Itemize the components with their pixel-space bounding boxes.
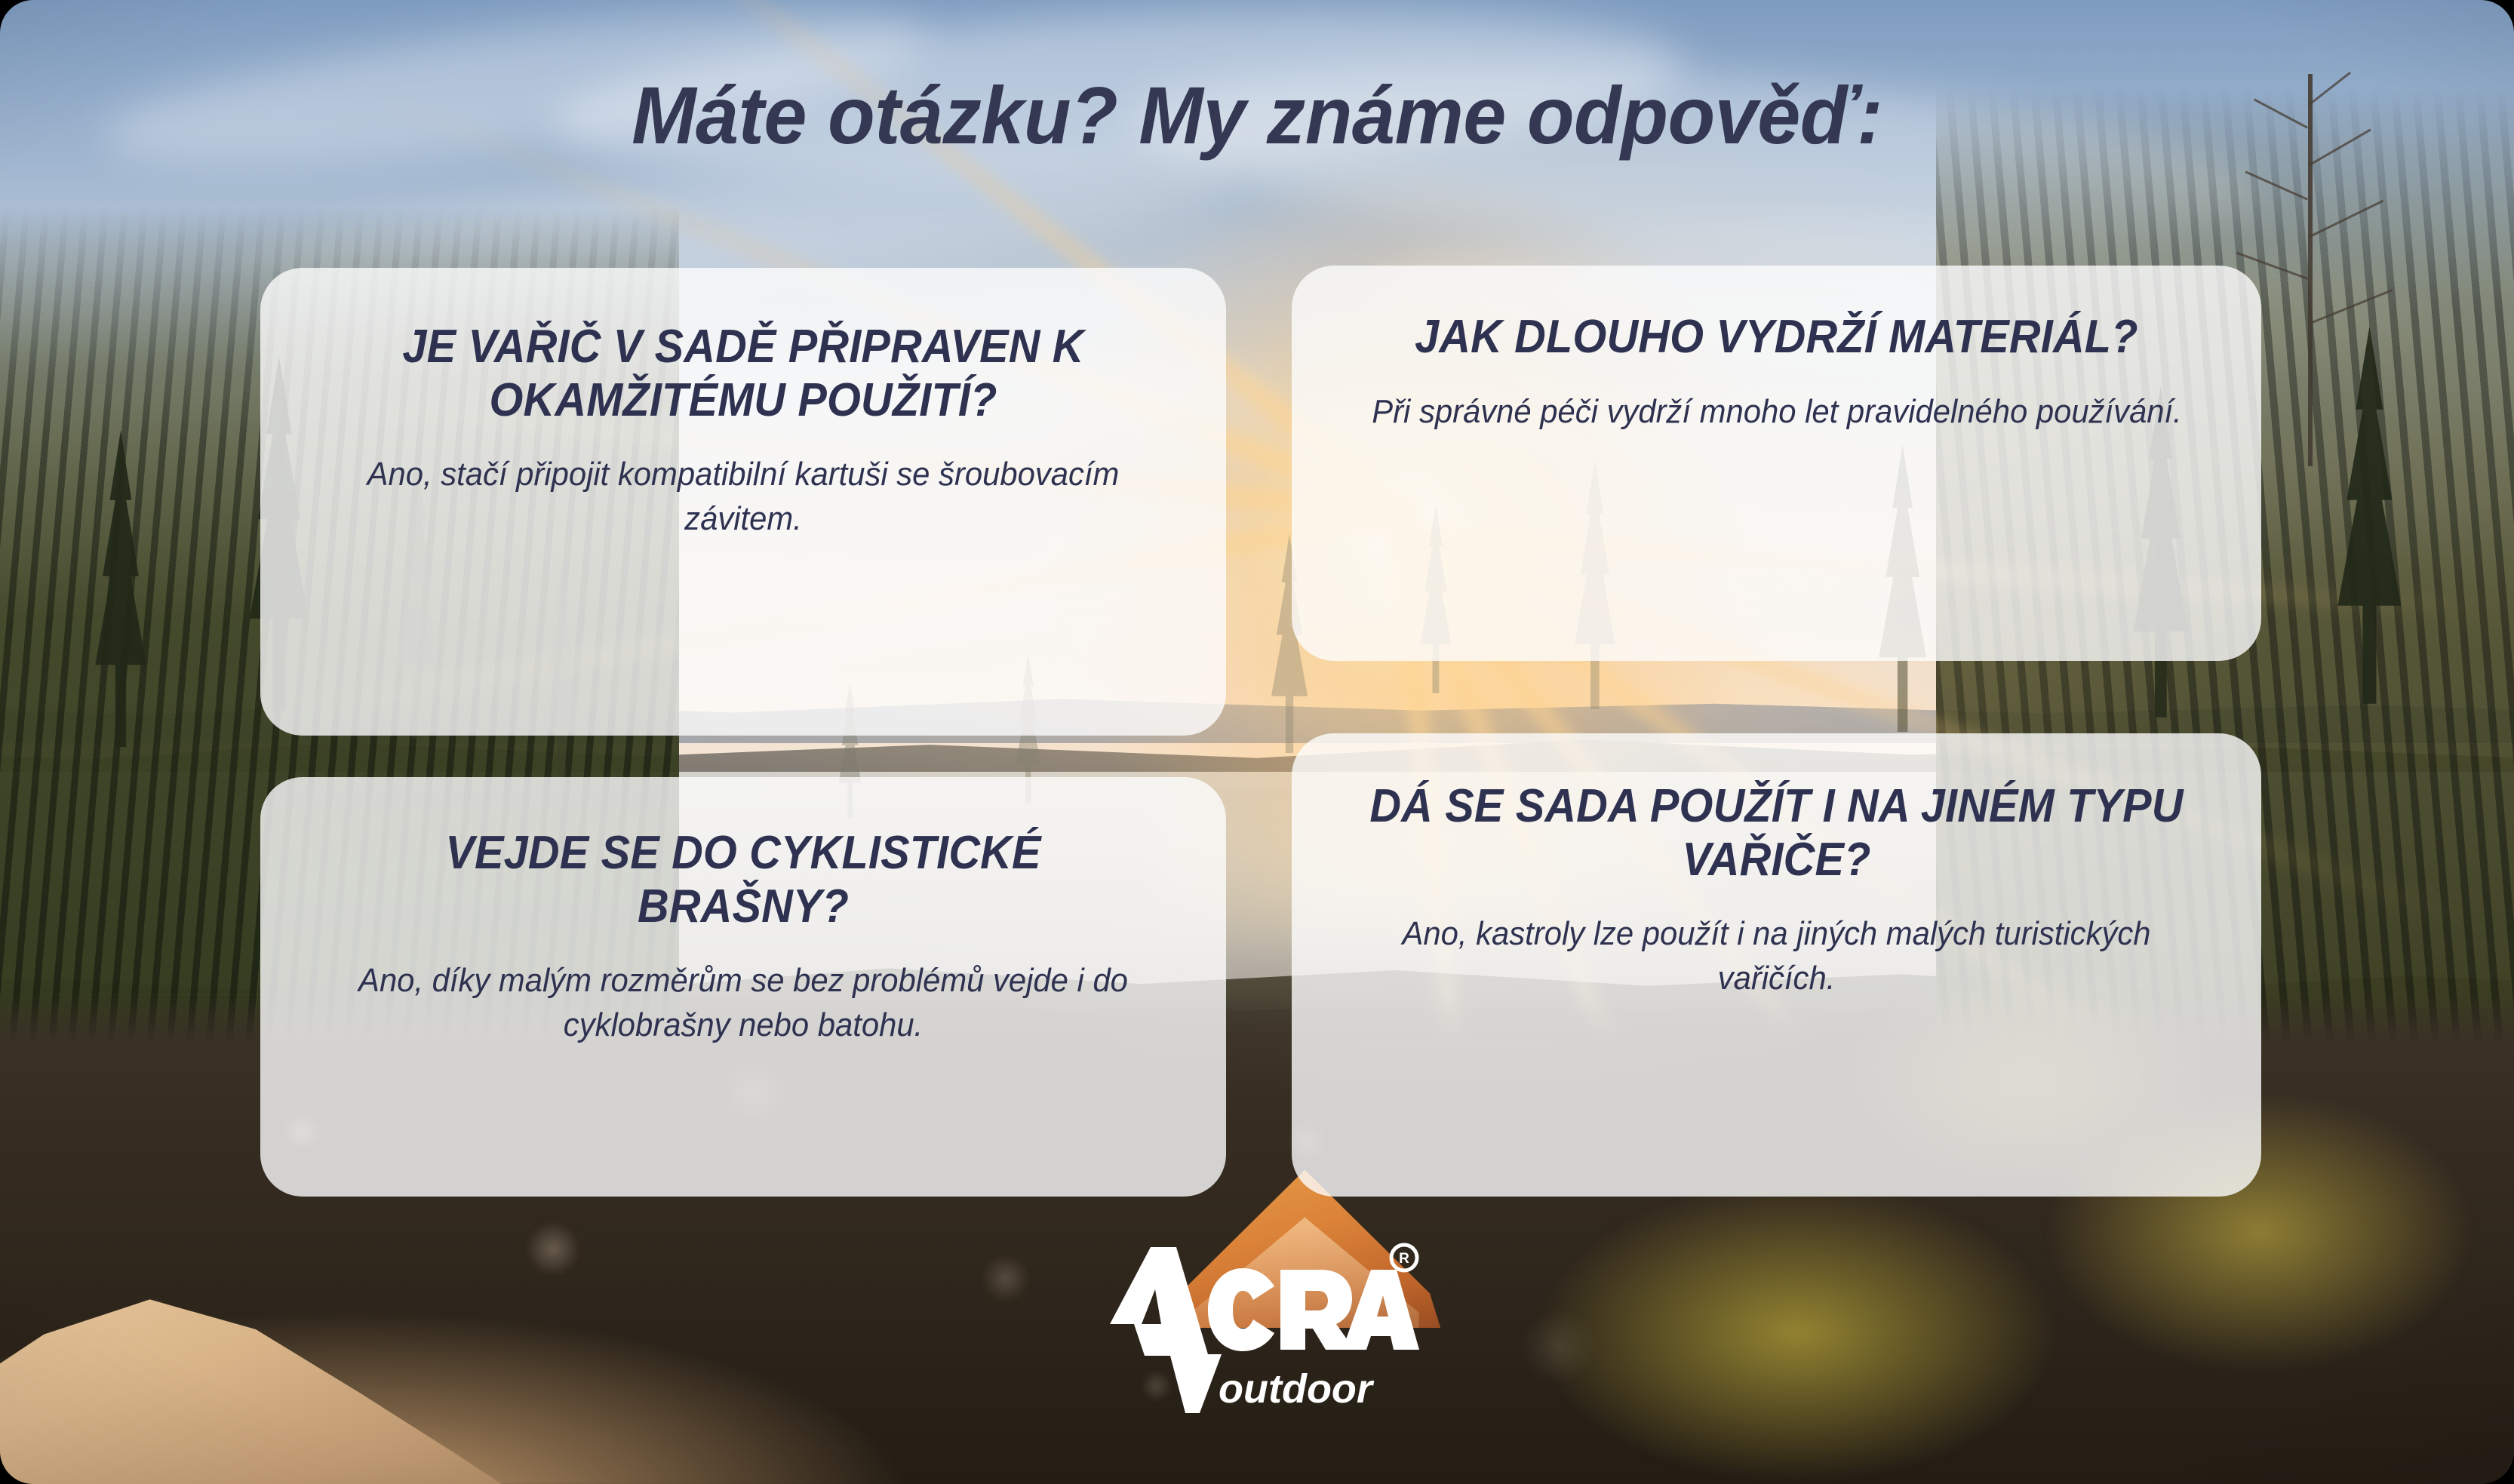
faq-question-0: JE VAŘIČ V SADĚ PŘIPRAVEN K OKAMŽITÉMU P… — [335, 321, 1152, 427]
acra-outdoor-logo: R outdoor — [1095, 1241, 1419, 1415]
faq-answer-2: Ano, díky malým rozměrům se bez problémů… — [326, 959, 1160, 1048]
faq-question-3: DÁ SE SADA POUŽÍT I NA JINÉM TYPU VAŘIČE… — [1366, 780, 2187, 886]
faq-answer-1: Při správné péči vydrží mnoho let pravid… — [1372, 390, 2181, 435]
faq-card-0: JE VAŘIČ V SADĚ PŘIPRAVEN K OKAMŽITÉMU P… — [260, 268, 1226, 736]
faq-question-2: VEJDE SE DO CYKLISTICKÉ BRAŠNY? — [335, 827, 1152, 933]
svg-text:R: R — [1399, 1251, 1409, 1267]
faq-poster: Máte otázku? My známe odpověď: JE VAŘIČ … — [0, 0, 2514, 1484]
faq-answer-3: Ano, kastroly lze použít i na jiných mal… — [1357, 912, 2196, 1001]
poster-content: Máte otázku? My známe odpověď: JE VAŘIČ … — [0, 0, 2514, 1484]
faq-card-2: VEJDE SE DO CYKLISTICKÉ BRAŠNY? Ano, dík… — [260, 777, 1226, 1197]
faq-answer-0: Ano, stačí připojit kompatibilní kartuši… — [326, 453, 1160, 542]
page-title: Máte otázku? My známe odpověď: — [63, 72, 2451, 158]
faq-card-1: JAK DLOUHO VYDRŽÍ MATERIÁL? Při správné … — [1292, 266, 2261, 661]
faq-card-3: DÁ SE SADA POUŽÍT I NA JINÉM TYPU VAŘIČE… — [1292, 733, 2261, 1197]
faq-question-1: JAK DLOUHO VYDRŽÍ MATERIÁL? — [1415, 311, 2138, 364]
logo-tagline: outdoor — [1219, 1366, 1375, 1412]
